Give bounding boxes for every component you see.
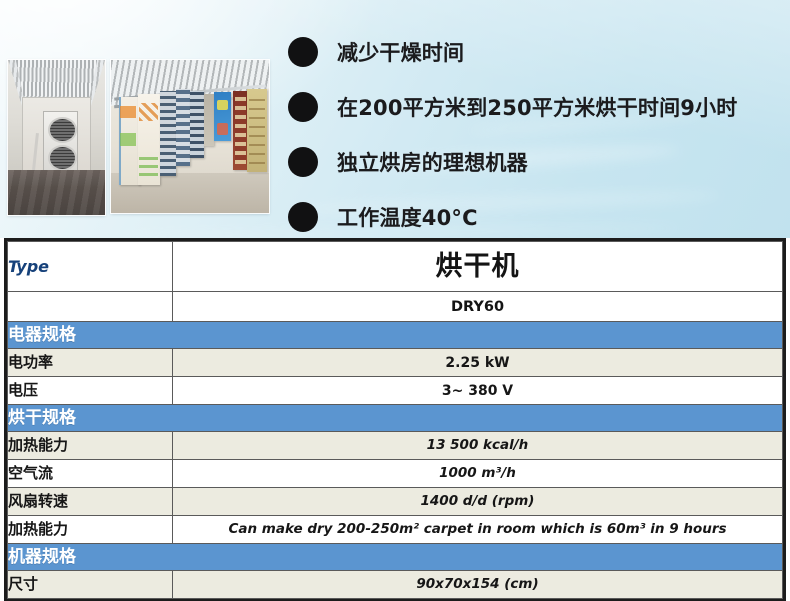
feature-bullet-item: 在200平方米到250平方米烘干时间9小时 (288, 79, 788, 134)
spec-key: 风扇转速 (8, 488, 173, 516)
feature-bullet-item: 独立烘房的理想机器 (288, 134, 788, 189)
table-row: 风扇转速 1400 d/d (rpm) (8, 488, 783, 516)
product-spec-page: 减少干燥时间 在200平方米到250平方米烘干时间9小时 独立烘房的理想机器 工… (0, 0, 790, 601)
bullet-dot-icon (288, 202, 318, 232)
spec-value: 2.25 kW (173, 349, 783, 377)
section-header-electrical: 电器规格 (8, 322, 783, 349)
table-row: 尺寸 90x70x154 (cm) (8, 571, 783, 599)
spec-value: 1000 m³/h (173, 460, 783, 488)
spec-key: 加热能力 (8, 516, 173, 544)
bullet-dot-icon (288, 37, 318, 67)
feature-bullet-item: 减少干燥时间 (288, 24, 788, 79)
model-row: DRY60 (8, 292, 783, 322)
spec-value: 13 500 kcal/h (173, 432, 783, 460)
bullet-dot-icon (288, 147, 318, 177)
spec-key: 空气流 (8, 460, 173, 488)
spec-key: 加热能力 (8, 432, 173, 460)
table-row: 电功率 2.25 kW (8, 349, 783, 377)
spec-value: 90x70x154 (cm) (173, 571, 783, 599)
model-value: DRY60 (173, 292, 783, 322)
feature-bullet-list: 减少干燥时间 在200平方米到250平方米烘干时间9小时 独立烘房的理想机器 工… (288, 24, 788, 238)
photo-drying-room (8, 60, 105, 215)
section-heading: 机器规格 (8, 544, 783, 571)
section-heading: 电器规格 (8, 322, 783, 349)
hero-banner: 减少干燥时间 在200平方米到250平方米烘干时间9小时 独立烘房的理想机器 工… (0, 0, 790, 238)
spec-key: 电功率 (8, 349, 173, 377)
table-row: 加热能力 13 500 kcal/h (8, 432, 783, 460)
type-label: Type (8, 242, 173, 292)
spec-value: 1400 d/d (rpm) (173, 488, 783, 516)
table-row: 电压 3~ 380 V (8, 377, 783, 405)
specification-table: Type 烘干机 DRY60 电器规格 电功率 2.25 kW 电压 3 (4, 238, 786, 601)
bullet-dot-icon (288, 92, 318, 122)
feature-bullet-item: 工作温度40°C (288, 189, 788, 238)
feature-bullet-label: 独立烘房的理想机器 (337, 147, 528, 177)
product-title: 烘干机 (173, 242, 783, 292)
spec-key: 电压 (8, 377, 173, 405)
spec-value: Can make dry 200-250m² carpet in room wh… (173, 516, 783, 544)
model-row-blank-cell (8, 292, 173, 322)
table-row: 加热能力 Can make dry 200-250m² carpet in ro… (8, 516, 783, 544)
spec-key: 尺寸 (8, 571, 173, 599)
table-row: 空气流 1000 m³/h (8, 460, 783, 488)
spec-value: 3~ 380 V (173, 377, 783, 405)
feature-bullet-label: 工作温度40°C (337, 202, 478, 232)
table-header-row: Type 烘干机 (8, 242, 783, 292)
section-heading: 烘干规格 (8, 405, 783, 432)
section-header-drying: 烘干规格 (8, 405, 783, 432)
photo-carpets-hanging (111, 60, 269, 213)
feature-bullet-label: 在200平方米到250平方米烘干时间9小时 (337, 92, 737, 122)
section-header-machine: 机器规格 (8, 544, 783, 571)
feature-bullet-label: 减少干燥时间 (337, 37, 464, 67)
